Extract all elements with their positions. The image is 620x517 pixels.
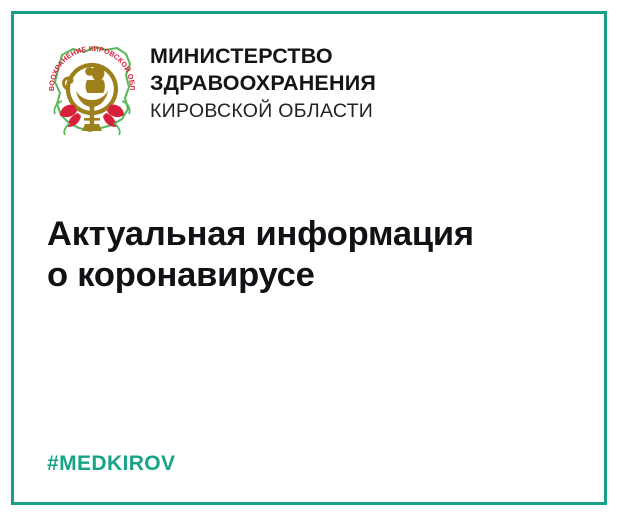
page-title: Актуальная информация о коронавирусе	[47, 214, 547, 296]
hashtag-medkirov: #MEDKIROV	[47, 452, 175, 476]
page-title-line-2: о коронавирусе	[47, 255, 547, 296]
brand-lockup: ЗДРАВООХРАНЕНИЕ КИРОВСКОЙ ОБЛАСТИ	[40, 35, 376, 139]
brand-line-zdravoohraneniya: ЗДРАВООХРАНЕНИЯ	[150, 70, 376, 97]
ministry-emblem-icon: ЗДРАВООХРАНЕНИЕ КИРОВСКОЙ ОБЛАСТИ	[40, 35, 144, 139]
poster: ЗДРАВООХРАНЕНИЕ КИРОВСКОЙ ОБЛАСТИ	[0, 0, 620, 517]
brand-line-kirovskoy-oblasti: КИРОВСКОЙ ОБЛАСТИ	[150, 98, 376, 125]
page-title-line-1: Актуальная информация	[47, 214, 547, 255]
brand-text-block: МИНИСТЕРСТВО ЗДРАВООХРАНЕНИЯ КИРОВСКОЙ О…	[150, 35, 376, 125]
brand-line-ministerstvo: МИНИСТЕРСТВО	[150, 43, 376, 70]
